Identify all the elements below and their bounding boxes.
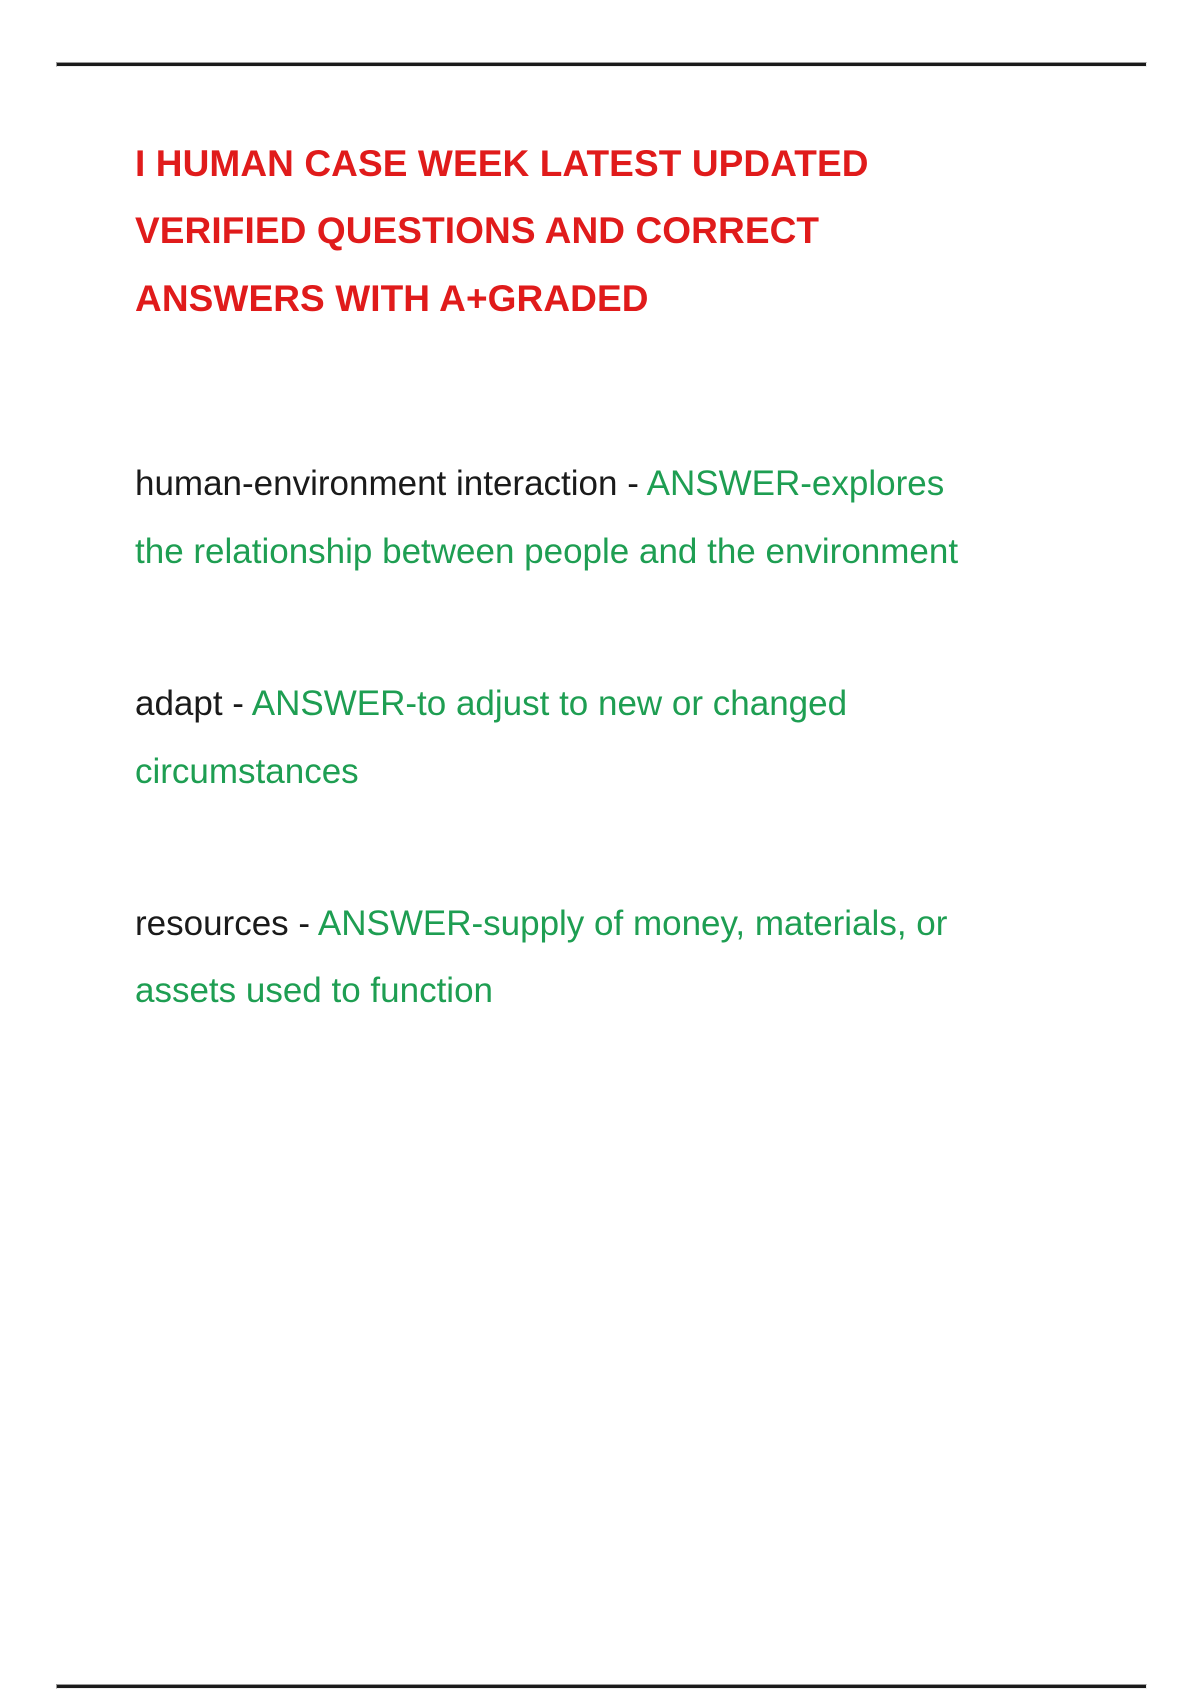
document-page: I HUMAN CASE WEEK LATEST UPDATED VERIFIE… <box>0 0 1200 1700</box>
qa-list: human-environment interaction - ANSWER-e… <box>135 450 1015 1025</box>
page-title-line-1: I HUMAN CASE WEEK LATEST UPDATED <box>135 130 1005 197</box>
qa-entry-2: adapt - ANSWER-to adjust to new or chang… <box>135 670 965 806</box>
page-bottom-divider <box>56 1684 1147 1689</box>
page-title-line-2: VERIFIED QUESTIONS AND CORRECT <box>135 197 1005 264</box>
qa-entry-3: resources - ANSWER-supply of money, mate… <box>135 890 965 1026</box>
qa-entry-1: human-environment interaction - ANSWER-e… <box>135 450 965 586</box>
qa-term-1: human-environment interaction - <box>135 464 647 503</box>
qa-term-3: resources - <box>135 904 318 943</box>
page-title: I HUMAN CASE WEEK LATEST UPDATED VERIFIE… <box>135 130 1005 332</box>
page-title-line-3: ANSWERS WITH A+GRADED <box>135 265 1005 332</box>
page-top-divider <box>56 62 1147 67</box>
qa-term-2: adapt - <box>135 684 252 723</box>
document-content: I HUMAN CASE WEEK LATEST UPDATED VERIFIE… <box>135 130 1015 1025</box>
